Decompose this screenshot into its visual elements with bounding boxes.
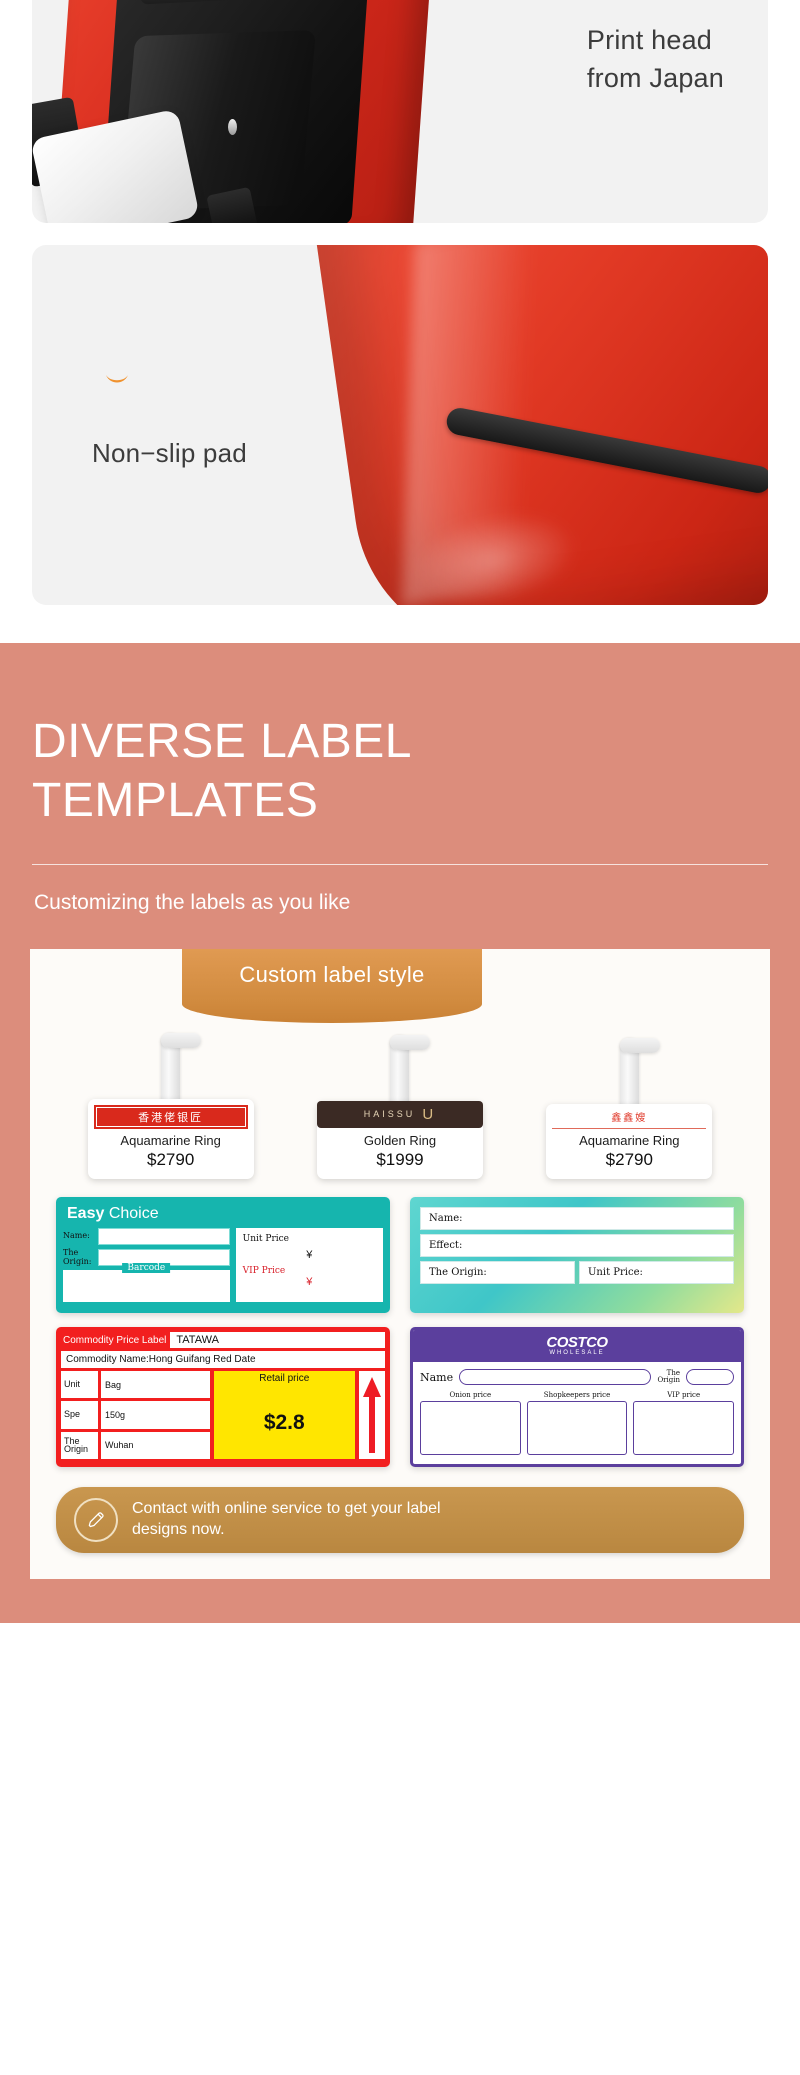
- tag-brand-badge: HAISSU U: [317, 1101, 483, 1128]
- costco-price-column: Onion price: [420, 1391, 521, 1455]
- printer-open-photo: [32, 0, 452, 223]
- label-template-easy-choice: Easy Choice Name: The Origin:: [56, 1197, 390, 1313]
- printer-corner-photo: [288, 245, 768, 605]
- hang-tag: HAISSU U Golden Ring $1999: [317, 977, 483, 1179]
- costco-origin-input[interactable]: [686, 1369, 734, 1385]
- costco-price-box[interactable]: [527, 1401, 628, 1455]
- costco-price-column: Shopkeepers price: [527, 1391, 628, 1455]
- gradient-effect-row: Effect:: [420, 1234, 734, 1257]
- costco-logo-sub: WHOLESALE: [413, 1350, 741, 1356]
- commodity-row-key: Unit: [61, 1371, 98, 1398]
- costco-column-label: Shopkeepers price: [527, 1391, 628, 1399]
- tag-product-name: Golden Ring: [323, 1133, 477, 1149]
- diverse-label-templates-section: DIVERSE LABEL TEMPLATES Customizing the …: [0, 643, 800, 1623]
- costco-price-box[interactable]: [633, 1401, 734, 1455]
- tag-product-name: Aquamarine Ring: [94, 1133, 248, 1149]
- tag-brand-text: 鑫鑫嫂: [611, 1113, 647, 1124]
- feature-card-print-head: Print head from Japan: [32, 0, 768, 223]
- tag-hook-icon: [390, 1035, 409, 1107]
- costco-name-label: Name: [420, 1371, 453, 1384]
- contact-online-service-button[interactable]: Contact with online service to get your …: [56, 1487, 744, 1553]
- commodity-retail-label: Retail price: [214, 1371, 355, 1386]
- gradient-name-row: Name:: [420, 1207, 734, 1230]
- label-template-gradient: Name: Effect: The Origin: Unit Price:: [410, 1197, 744, 1313]
- tag-brand-badge: 香港佬银匠: [94, 1105, 248, 1129]
- section-subtitle: Customizing the labels as you like: [34, 891, 768, 915]
- pencil-icon: [74, 1498, 118, 1542]
- tag-brand-text: HAISSU: [364, 1109, 416, 1119]
- hang-tag: 香港佬银匠 Aquamarine Ring $2790: [88, 975, 254, 1179]
- label-template-costco: COSTCO WHOLESALE Name The Origin Onion p…: [410, 1327, 744, 1467]
- templates-heading-block: DIVERSE LABEL TEMPLATES Customizing the …: [0, 713, 800, 915]
- costco-price-column: VIP price: [633, 1391, 734, 1455]
- costco-logo: COSTCO: [413, 1335, 741, 1350]
- easy-choice-title-bold: Easy: [67, 1205, 104, 1222]
- label-templates-grid: Easy Choice Name: The Origin:: [30, 1179, 770, 1467]
- contact-bar-text: Contact with online service to get your …: [132, 1499, 441, 1541]
- commodity-row-key: Spe: [61, 1401, 98, 1428]
- tag-face: 鑫鑫嫂 Aquamarine Ring $2790: [546, 1104, 712, 1179]
- up-arrow-icon: [359, 1371, 385, 1459]
- commodity-row-value: Wuhan: [101, 1432, 210, 1459]
- product-detail-page: Print head from Japan Non−slip pad DIVER…: [0, 0, 800, 1623]
- page-title: DIVERSE LABEL TEMPLATES: [32, 713, 768, 830]
- down-chevron-icon: [104, 373, 130, 387]
- easy-vip-price-label: VIP Price: [243, 1266, 376, 1276]
- commodity-retail-block: Retail price $2.8: [214, 1371, 355, 1459]
- commodity-name: Commodity Name:Hong Guifang Red Date: [61, 1351, 385, 1368]
- feature-card-non-slip-pad: Non−slip pad: [32, 245, 768, 605]
- easy-choice-header: Easy Choice: [63, 1204, 383, 1228]
- easy-name-label: Name:: [63, 1232, 93, 1240]
- easy-origin-label: The Origin:: [63, 1249, 93, 1266]
- commodity-attribute-rows: Unit Bag Spe 150g The Origin Wuhan: [61, 1371, 210, 1459]
- costco-origin-label: The Origin: [657, 1370, 680, 1384]
- tag-hook-icon: [620, 1038, 639, 1110]
- costco-name-input[interactable]: [459, 1369, 651, 1385]
- tag-price: $2790: [94, 1150, 248, 1170]
- feature-caption-print-head: Print head from Japan: [587, 21, 724, 98]
- commodity-retail-price: $2.8: [214, 1386, 355, 1459]
- tag-product-name: Aquamarine Ring: [552, 1133, 706, 1149]
- gradient-unit-price-row: Unit Price:: [579, 1261, 734, 1284]
- hang-tags-row: 香港佬银匠 Aquamarine Ring $2790 HAISSU U Gol…: [30, 1029, 770, 1179]
- easy-unit-price-label: Unit Price: [243, 1234, 376, 1244]
- tag-price: $1999: [323, 1150, 477, 1170]
- costco-column-label: Onion price: [420, 1391, 521, 1399]
- tag-hook-icon: [161, 1033, 180, 1105]
- easy-choice-price-fields: Unit Price ¥ VIP Price ¥: [236, 1228, 383, 1302]
- easy-barcode-box: Barcode: [63, 1270, 230, 1302]
- commodity-title: Commodity Price Label: [61, 1335, 166, 1346]
- label-template-commodity-price: Commodity Price Label TATAWA Commodity N…: [56, 1327, 390, 1467]
- commodity-brand: TATAWA: [170, 1332, 385, 1348]
- tag-brand-badge: 鑫鑫嫂: [552, 1108, 706, 1129]
- gradient-origin-row: The Origin:: [420, 1261, 575, 1284]
- table-row: The Origin Wuhan: [61, 1432, 210, 1459]
- costco-price-box[interactable]: [420, 1401, 521, 1455]
- costco-header: COSTCO WHOLESALE: [413, 1330, 741, 1362]
- commodity-row-key: The Origin: [61, 1432, 98, 1459]
- easy-name-input[interactable]: [98, 1228, 230, 1245]
- easy-barcode-label: Barcode: [122, 1263, 170, 1273]
- feature-caption-non-slip-pad: Non−slip pad: [92, 435, 247, 472]
- table-row: Unit Bag: [61, 1371, 210, 1398]
- commodity-row-value: 150g: [101, 1401, 210, 1428]
- easy-choice-title-light: Choice: [109, 1205, 159, 1222]
- hang-tag: 鑫鑫嫂 Aquamarine Ring $2790: [546, 980, 712, 1179]
- tag-face: 香港佬银匠 Aquamarine Ring $2790: [88, 1099, 254, 1179]
- tag-price: $2790: [552, 1150, 706, 1170]
- divider: [32, 864, 768, 865]
- easy-vip-price-value: ¥: [243, 1276, 376, 1288]
- costco-column-label: VIP price: [633, 1391, 734, 1399]
- tag-brand-mark: U: [422, 1106, 436, 1123]
- templates-panel: Custom label style 香港佬银匠 Aquamarine Ring…: [30, 949, 770, 1579]
- tag-brand-text: 香港佬银匠: [97, 1108, 245, 1126]
- easy-unit-price-value: ¥: [243, 1249, 376, 1261]
- easy-choice-left-fields: Name: The Origin: Barcode: [63, 1228, 230, 1302]
- table-row: Spe 150g: [61, 1401, 210, 1428]
- commodity-row-value: Bag: [101, 1371, 210, 1398]
- tag-face: HAISSU U Golden Ring $1999: [317, 1101, 483, 1179]
